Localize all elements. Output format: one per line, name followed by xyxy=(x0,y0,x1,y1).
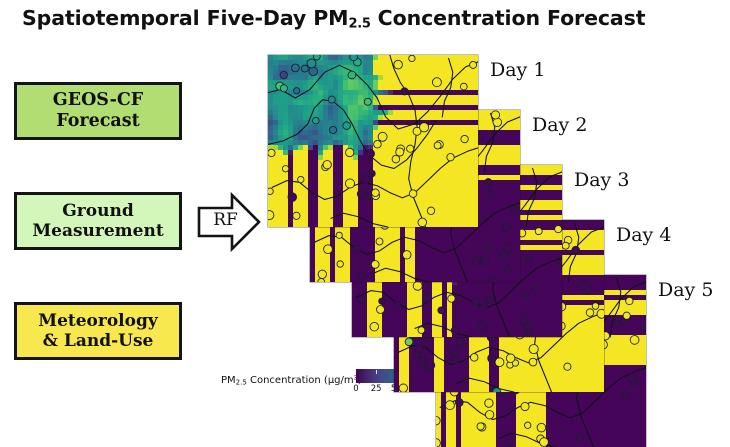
colorbar-tickmark-25 xyxy=(376,370,377,374)
input-box-geos-cf-line1: GEOS-CF xyxy=(53,90,143,111)
colorbar-label-subscript: 2.5 xyxy=(236,378,247,386)
forecast-map-panel-day-1 xyxy=(268,55,478,227)
model-label-rf: RF xyxy=(203,210,248,230)
panel-label-day-1: Day 1 xyxy=(490,59,545,81)
input-box-ground-measurement-line2: Measurement xyxy=(32,221,163,241)
colorbar-tick-0: 0 xyxy=(353,384,358,394)
colorbar-label-prefix: PM xyxy=(221,375,236,386)
colorbar-label-suffix: Concentration (μg/m³) xyxy=(247,375,362,386)
panel-label-day-2: Day 2 xyxy=(532,114,587,136)
title-subscript: 2.5 xyxy=(348,16,370,31)
colorbar-label: PM2.5 Concentration (μg/m³) xyxy=(221,375,362,386)
input-box-meteorology-land-use-line2: & Land-Use xyxy=(38,331,158,351)
input-box-geos-cf-line2: Forecast xyxy=(53,111,143,132)
page-title: Spatiotemporal Five-Day PM2.5 Concentrat… xyxy=(22,6,645,31)
title-suffix: Concentration Forecast xyxy=(371,6,646,30)
panel-label-day-5: Day 5 xyxy=(658,279,713,301)
input-box-ground-measurement-line1: Ground xyxy=(32,201,163,221)
title-prefix: Spatiotemporal Five-Day PM xyxy=(22,6,348,30)
panel-label-day-3: Day 3 xyxy=(574,169,629,191)
panel-label-day-4: Day 4 xyxy=(616,224,671,246)
input-box-geos-cf: GEOS-CF Forecast xyxy=(14,82,182,140)
figure-canvas: Spatiotemporal Five-Day PM2.5 Concentrat… xyxy=(0,0,730,410)
input-box-ground-measurement: Ground Measurement xyxy=(14,192,182,250)
input-box-meteorology-land-use-line1: Meteorology xyxy=(38,311,158,331)
input-box-meteorology-land-use: Meteorology & Land-Use xyxy=(14,302,182,360)
colorbar-tick-25: 25 xyxy=(371,384,382,394)
